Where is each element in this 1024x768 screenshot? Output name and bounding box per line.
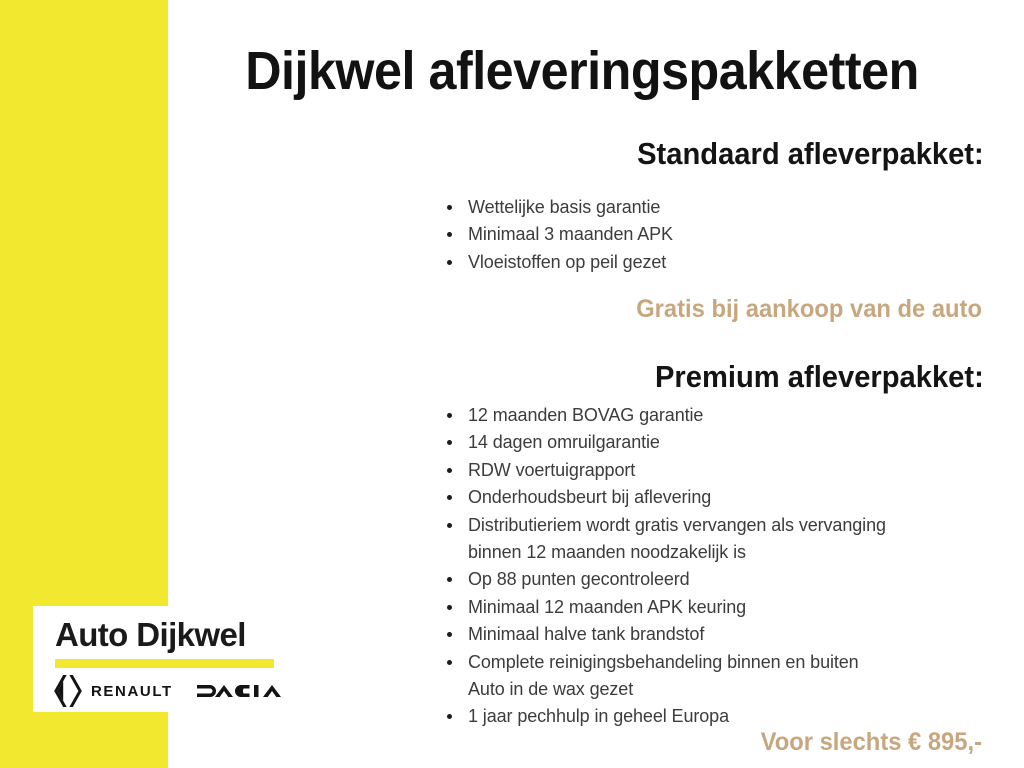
list-item-text: Complete reinigingsbehandeling binnen en… <box>468 652 859 672</box>
list-item-text: Onderhoudsbeurt bij aflevering <box>468 487 711 507</box>
list-item: 14 dagen omruilgarantie <box>443 429 1003 456</box>
list-item: Minimaal halve tank brandstof <box>443 621 1003 648</box>
bullet-dot-icon <box>447 523 452 528</box>
list-item-text: Wettelijke basis garantie <box>468 197 660 217</box>
bullet-dot-icon <box>447 205 452 210</box>
logo-yellow-rule <box>55 659 274 668</box>
bullet-dot-icon <box>447 632 452 637</box>
list-item: Complete reinigingsbehandeling binnen en… <box>443 649 1003 704</box>
list-item-text: Op 88 punten gecontroleerd <box>468 569 690 589</box>
bullet-dot-icon <box>447 232 452 237</box>
list-item-text: RDW voertuigrapport <box>468 460 635 480</box>
list-item-text: 1 jaar pechhulp in geheel Europa <box>468 706 729 726</box>
bullet-dot-icon <box>447 260 452 265</box>
logo-wordmark: Auto Dijkwel <box>55 615 246 655</box>
heading-premium-afleverpakket: Premium afleverpakket: <box>655 358 984 396</box>
premium-price: Voor slechts € 895,- <box>761 726 982 758</box>
bullet-dot-icon <box>447 714 452 719</box>
list-item-continuation: Auto in de wax gezet <box>468 676 1003 703</box>
bullet-dot-icon <box>447 660 452 665</box>
list-item-text: 14 dagen omruilgarantie <box>468 432 660 452</box>
heading-standaard-afleverpakket: Standaard afleverpakket: <box>637 135 984 173</box>
list-item: Vloeistoffen op peil gezet <box>443 249 1003 276</box>
list-item: 12 maanden BOVAG garantie <box>443 402 1003 429</box>
bullet-dot-icon <box>447 495 452 500</box>
brand-row: RENAULT <box>45 672 290 710</box>
list-item: Distributieriem wordt gratis vervangen a… <box>443 512 1003 567</box>
list-item: Minimaal 3 maanden APK <box>443 221 1003 248</box>
list-item-continuation: binnen 12 maanden noodzakelijk is <box>468 539 1003 566</box>
list-item-text: Vloeistoffen op peil gezet <box>468 252 666 272</box>
list-item-text: Minimaal 12 maanden APK keuring <box>468 597 746 617</box>
dacia-logo <box>197 682 289 700</box>
bullet-dot-icon <box>447 440 452 445</box>
renault-label: RENAULT <box>91 683 173 700</box>
list-item-text: 12 maanden BOVAG garantie <box>468 405 703 425</box>
list-item-text: Distributieriem wordt gratis vervangen a… <box>468 515 886 535</box>
list-item: Minimaal 12 maanden APK keuring <box>443 594 1003 621</box>
bullet-dot-icon <box>447 605 452 610</box>
bullet-dot-icon <box>447 413 452 418</box>
list-item: Op 88 punten gecontroleerd <box>443 566 1003 593</box>
list-item: Onderhoudsbeurt bij aflevering <box>443 484 1003 511</box>
standaard-feature-list: Wettelijke basis garantieMinimaal 3 maan… <box>443 194 1003 276</box>
list-item-text: Minimaal 3 maanden APK <box>468 224 673 244</box>
list-item: Wettelijke basis garantie <box>443 194 1003 221</box>
renault-diamond-icon <box>51 673 85 709</box>
premium-feature-list: 12 maanden BOVAG garantie14 dagen omruil… <box>443 402 1003 731</box>
list-item-text: Minimaal halve tank brandstof <box>468 624 704 644</box>
list-item: RDW voertuigrapport <box>443 457 1003 484</box>
auto-dijkwel-logo-card: Auto Dijkwel RENAULT <box>33 606 290 712</box>
bullet-dot-icon <box>447 577 452 582</box>
bullet-dot-icon <box>447 468 452 473</box>
slide-root: Dijkwel afleveringspakketten Standaard a… <box>0 0 1024 768</box>
standaard-tagline: Gratis bij aankoop van de auto <box>636 293 982 325</box>
page-title: Dijkwel afleveringspakketten <box>208 40 956 102</box>
